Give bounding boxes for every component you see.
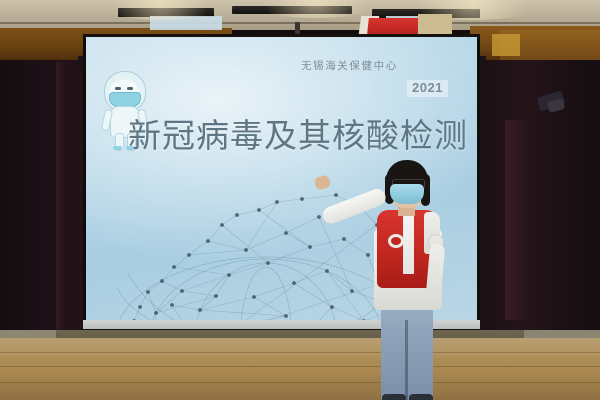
lecture-hall-photo: 无锡海关保健中心 2021 新冠病毒及其核酸检测 — [0, 0, 600, 400]
presenter-arm-lowered — [426, 243, 445, 296]
floor-plank — [0, 366, 600, 367]
ceiling-seam — [0, 22, 600, 24]
curtain-left-fold — [56, 62, 66, 334]
ceiling-banner-cream — [418, 14, 452, 36]
curtain-left — [0, 60, 86, 338]
floor-plank — [0, 352, 600, 353]
curtain-right — [470, 60, 600, 338]
slide-year-badge: 2021 — [407, 80, 448, 97]
presenter-vest-opening — [403, 212, 414, 274]
nurse-eye-right — [127, 87, 133, 90]
volunteer-emblem-inner — [391, 237, 401, 245]
presenter-leg-split — [405, 320, 408, 400]
slide-subtitle: 无锡海关保健中心 — [301, 58, 398, 73]
nurse-shoe-left — [113, 146, 122, 150]
nurse-face-mask — [109, 92, 141, 107]
projector-mount — [295, 22, 300, 34]
presenter-shoe-right — [409, 394, 433, 400]
stage-floor-sheen — [0, 338, 600, 358]
curtain-right-fold — [505, 120, 531, 320]
presenter-shoe-left — [382, 394, 406, 400]
surgical-mask-icon — [390, 184, 424, 204]
floor-plank — [0, 382, 600, 383]
slide-title: 新冠病毒及其核酸检测 — [128, 109, 468, 157]
volunteer-presenter — [352, 152, 470, 400]
ceiling-banner-red — [367, 18, 421, 34]
wood-accent-right — [492, 34, 520, 56]
nurse-eye-left — [115, 87, 121, 90]
